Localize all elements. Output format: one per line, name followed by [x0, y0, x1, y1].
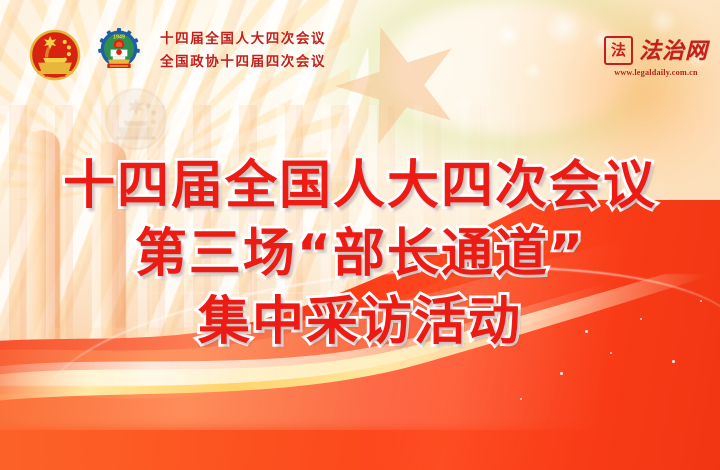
banner-header: 1949 十四届全国人大四次会议 全国政协十四届四次会议 法 法治网: [0, 0, 720, 106]
logo-row: 法 法治网: [604, 36, 708, 65]
header-conference-names: 十四届全国人大四次会议 全国政协十四届四次会议: [160, 32, 326, 68]
sparkle: [520, 398, 522, 400]
sparkle: [610, 352, 612, 354]
cppcc-emblem-icon: 1949: [94, 27, 144, 79]
title-line-3: 集中采访活动: [198, 296, 522, 348]
cppcc-year-text: 1949: [113, 34, 125, 40]
header-line-cppcc: 全国政协十四届四次会议: [160, 55, 326, 69]
sparkle: [560, 372, 563, 375]
title-line-1: 十四届全国人大四次会议: [63, 160, 657, 212]
title-line-2: 第三场“部长通道”: [135, 228, 585, 280]
header-line-npc: 十四届全国人大四次会议: [160, 32, 326, 46]
national-emblem-icon: [28, 27, 82, 83]
legaldaily-logo[interactable]: 法 法治网 www.legaldaily.com.cn: [604, 36, 708, 77]
legaldaily-seal-icon: 法: [604, 36, 633, 65]
sparkle: [672, 360, 675, 363]
legaldaily-url: www.legaldaily.com.cn: [614, 68, 698, 77]
legaldaily-wordmark: 法治网: [639, 40, 708, 62]
two-sessions-press-event-banner: 1949 十四届全国人大四次会议 全国政协十四届四次会议 法 法治网: [0, 0, 720, 470]
banner-title: 十四届全国人大四次会议 第三场“部长通道” 集中采访活动: [0, 160, 720, 348]
